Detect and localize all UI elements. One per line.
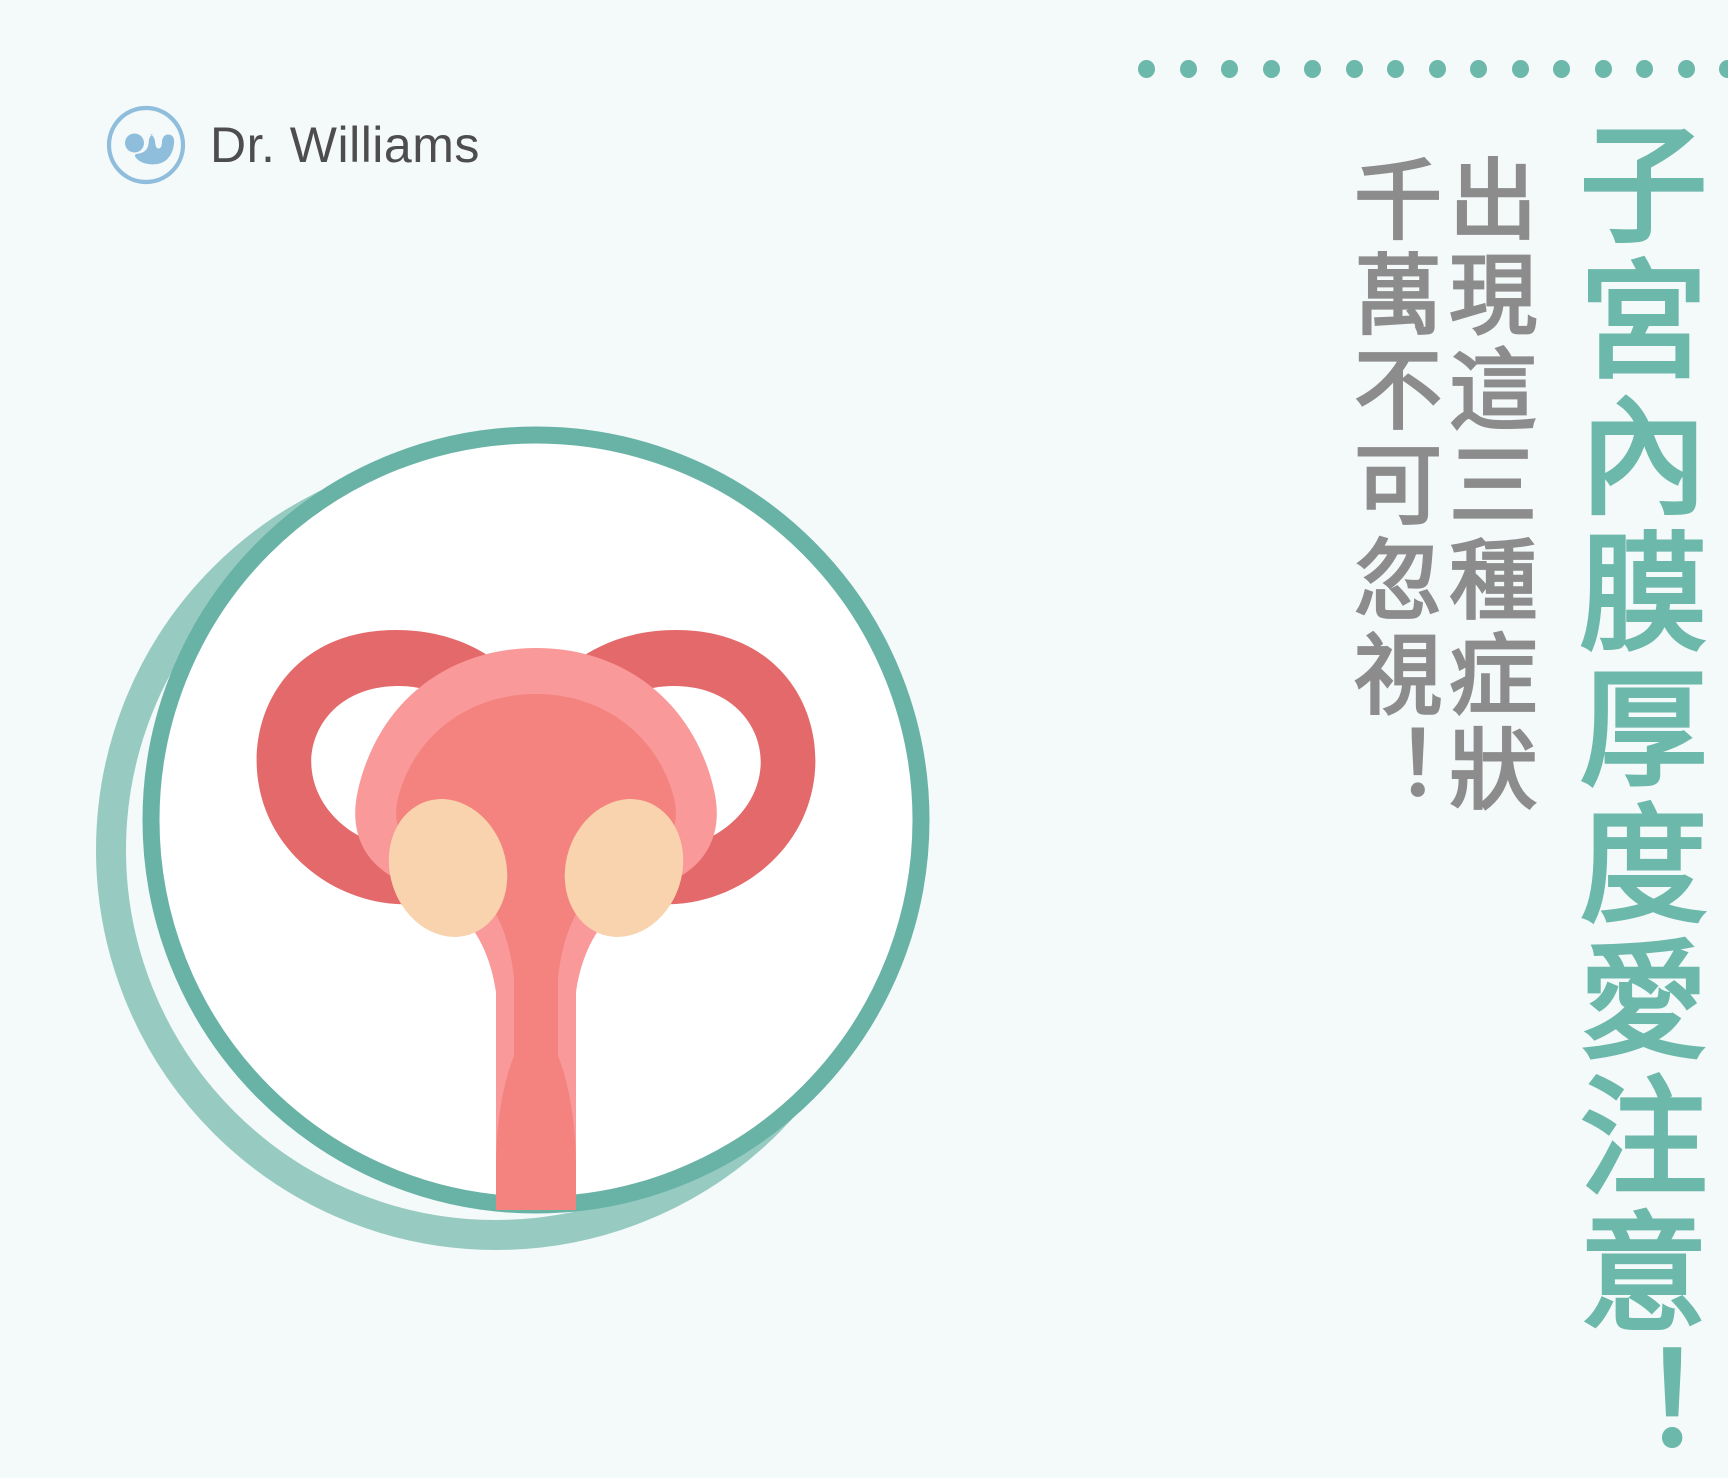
headline-tertiary: 千萬不可忽視！	[1344, 118, 1439, 819]
rule-dot	[1636, 60, 1653, 78]
rule-dot	[1387, 60, 1404, 78]
rule-dot	[1553, 60, 1570, 78]
rule-dot	[1678, 60, 1695, 78]
rule-dot	[1346, 60, 1363, 78]
headline-block: 子宮內膜厚度愛注意！ 出現這三種症狀 千萬不可忽視！	[1060, 118, 1720, 1418]
rule-dot	[1719, 60, 1728, 78]
rule-dot	[1429, 60, 1446, 78]
dotted-rule	[1138, 56, 1728, 82]
uterus-anatomy-illustration	[96, 380, 976, 1260]
brand-name: Dr. Williams	[210, 120, 480, 170]
rule-dot	[1470, 60, 1487, 78]
rule-dot	[1263, 60, 1280, 78]
rule-dot	[1221, 60, 1238, 78]
rule-dot	[1595, 60, 1612, 78]
headline-secondary: 出現這三種症狀	[1439, 118, 1534, 819]
brand-lockup: Dr. Williams	[104, 103, 480, 187]
person-in-circle-icon	[104, 103, 188, 187]
headline-primary: 子宮內膜厚度愛注意！	[1564, 118, 1698, 1478]
rule-dot	[1304, 60, 1321, 78]
rule-dot	[1180, 60, 1197, 78]
rule-dot	[1512, 60, 1529, 78]
rule-dot	[1138, 60, 1155, 78]
